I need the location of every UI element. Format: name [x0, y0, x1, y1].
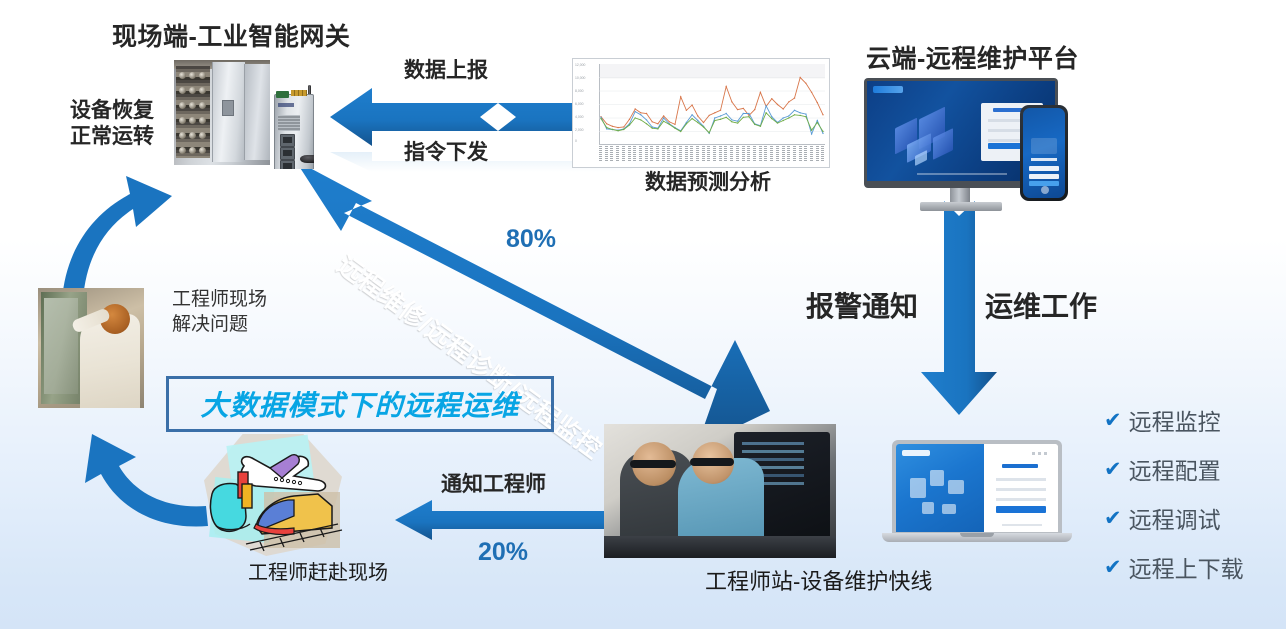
label-ops-work: 运维工作	[985, 290, 1097, 324]
prediction-chart-thumbnail: 12,000 10,000 8,000 6,000 4,000 2,000 0	[572, 58, 830, 168]
transport-clipart	[198, 432, 348, 558]
checklist-item-label: 远程监控	[1129, 403, 1221, 437]
big-data-remote-ops-banner: 大数据模式下的远程运维	[166, 376, 554, 432]
chart-x-axis-labels	[599, 146, 825, 166]
gateway-section-title: 现场端-工业智能网关	[112, 22, 350, 53]
label-engineer-onsite: 工程师现场 解决问题	[172, 288, 267, 337]
label-transport-caption: 工程师赶赴现场	[248, 560, 388, 586]
list-item: ✔ 远程监控	[1104, 403, 1244, 437]
cloud-platform-phone	[1020, 105, 1068, 201]
arrow-notify-engineer	[395, 500, 605, 540]
transport-vehicles-icon	[198, 432, 348, 558]
checklist-item-label: 远程配置	[1129, 452, 1221, 486]
label-alarm-notice: 报警通知	[806, 290, 918, 324]
label-device-recover: 设备恢复 正常运转	[70, 98, 154, 149]
check-icon: ✔	[1104, 459, 1122, 480]
label-diagonal-remote-services: 远程维修/远程诊断/远程监控	[331, 246, 610, 466]
label-command-dispatch: 指令下发	[404, 140, 488, 166]
industrial-gateway-device	[272, 85, 314, 169]
check-icon: ✔	[1104, 410, 1122, 431]
check-icon: ✔	[1104, 557, 1122, 578]
curved-arrow-dispatch	[85, 434, 208, 527]
checklist-item-label: 远程上下载	[1129, 550, 1244, 584]
label-station-caption: 工程师站-设备维护快线	[705, 568, 932, 597]
label-data-report: 数据上报	[404, 58, 488, 84]
chart-series-预测值	[601, 78, 823, 128]
check-icon: ✔	[1104, 508, 1122, 529]
banner-text: 大数据模式下的远程运维	[200, 384, 519, 424]
curved-arrow-recover	[62, 176, 172, 300]
server-cabinet-photo	[174, 60, 270, 165]
label-engineer-onsite-line2: 解决问题	[172, 313, 267, 338]
cloud-section-title: 云端-远程维护平台	[866, 44, 1079, 75]
engineer-onsite-photo	[38, 288, 144, 408]
label-chart-caption: 数据预测分析	[645, 170, 771, 196]
chart-series-基准值	[601, 113, 823, 133]
list-item: ✔ 远程调试	[1104, 501, 1244, 535]
label-engineer-onsite-line1: 工程师现场	[172, 288, 267, 313]
list-item: ✔ 远程上下载	[1104, 550, 1244, 584]
list-item: ✔ 远程配置	[1104, 452, 1244, 486]
percent-remote: 80%	[506, 225, 556, 254]
label-device-recover-line2: 正常运转	[70, 124, 154, 150]
checklist-item-label: 远程调试	[1129, 501, 1221, 535]
label-device-recover-line1: 设备恢复	[70, 98, 154, 124]
engineer-station-photo	[604, 424, 836, 558]
percent-onsite: 20%	[478, 538, 528, 567]
remote-capability-checklist: ✔ 远程监控 ✔ 远程配置 ✔ 远程调试 ✔ 远程上下载	[1104, 403, 1244, 599]
maintenance-laptop	[882, 440, 1072, 550]
label-notify-engineer: 通知工程师	[441, 472, 546, 498]
chart-lines	[599, 64, 825, 145]
